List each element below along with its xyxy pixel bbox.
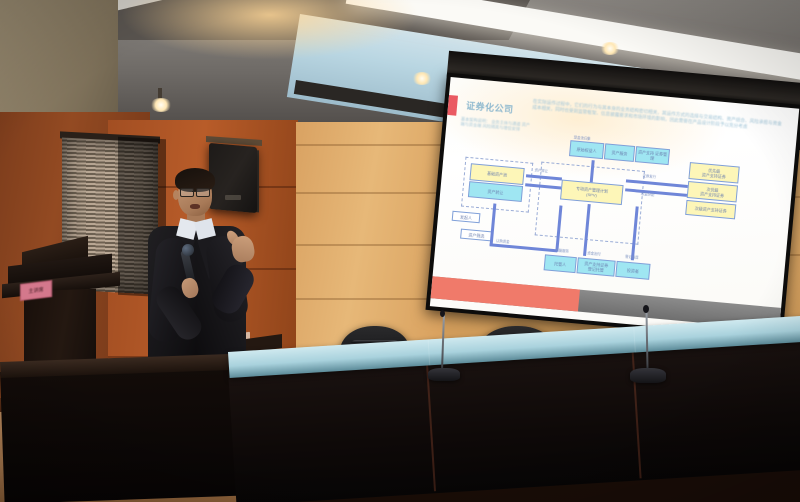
presentation-room-photo: 证券化公司 在实际运作过程中，它们的行为与其本身的业务结构密切相关，其运作方式的… <box>0 0 800 502</box>
slide-left-accent <box>447 95 458 116</box>
conference-table <box>228 352 800 502</box>
diagram-arrow-bottom-feed <box>490 243 558 252</box>
presenter-mouth <box>190 204 200 209</box>
table-microphone-1-base <box>428 368 460 381</box>
diagram-arrow-left-down <box>490 203 496 245</box>
diagram-edge-label-3: 收益分配 <box>641 191 655 197</box>
glasses-bridge <box>192 191 197 192</box>
diagram-edge-label-4: 托管服务 <box>555 247 569 253</box>
presenter-ear <box>173 190 179 200</box>
diagram-box-right-2: 次优级 资产支持证券 <box>687 181 738 202</box>
diagram-edge-label-5: 资金划付 <box>587 250 601 256</box>
table-microphone-1-capsule <box>440 310 445 317</box>
diagram-box-bottom-2: 资产支持证券 登记托管 <box>576 257 615 276</box>
downlight-icon-1 <box>150 98 172 112</box>
table-microphone-2-capsule <box>643 305 649 313</box>
downlight-icon-2 <box>412 72 432 85</box>
diagram-box-left-small-2: 资产筛选 <box>460 229 493 242</box>
diagram-box-top-1: 原始权益人 <box>569 140 604 159</box>
table-top-seam-2 <box>633 326 636 352</box>
table-top-seam-1 <box>428 339 431 365</box>
diagram-box-right-3: 次级资产支持证券 <box>685 200 736 219</box>
diagram-edge-label-6: 登记结算 <box>625 254 639 260</box>
diagram-box-bottom-1: 托管人 <box>544 254 577 273</box>
downlight-icon-3 <box>600 42 620 55</box>
diagram-box-top-2: 资产服务 <box>604 143 635 162</box>
glasses-lens-left <box>180 188 194 197</box>
diagram-box-left-small-1: 发起人 <box>452 211 481 223</box>
table-left-front <box>0 364 244 502</box>
slide-footer-accent-bar <box>431 276 580 311</box>
projection-screen: 证券化公司 在实际运作过程中，它们的行为与其本身的业务结构密切相关，其运作方式的… <box>417 62 800 350</box>
glasses-lens-right <box>196 188 210 197</box>
diagram-box-bottom-3: 投资者 <box>615 261 650 280</box>
table-panel-seam-1 <box>426 361 436 491</box>
screen-surface: 证券化公司 在实际运作过程中，它们的行为与其本身的业务结构密切相关，其运作方式的… <box>430 77 799 338</box>
diagram-box-top-3: 资产支持 证券管理 <box>635 146 670 165</box>
table-microphone-2-base <box>630 368 666 383</box>
table-left-segment <box>0 362 240 502</box>
